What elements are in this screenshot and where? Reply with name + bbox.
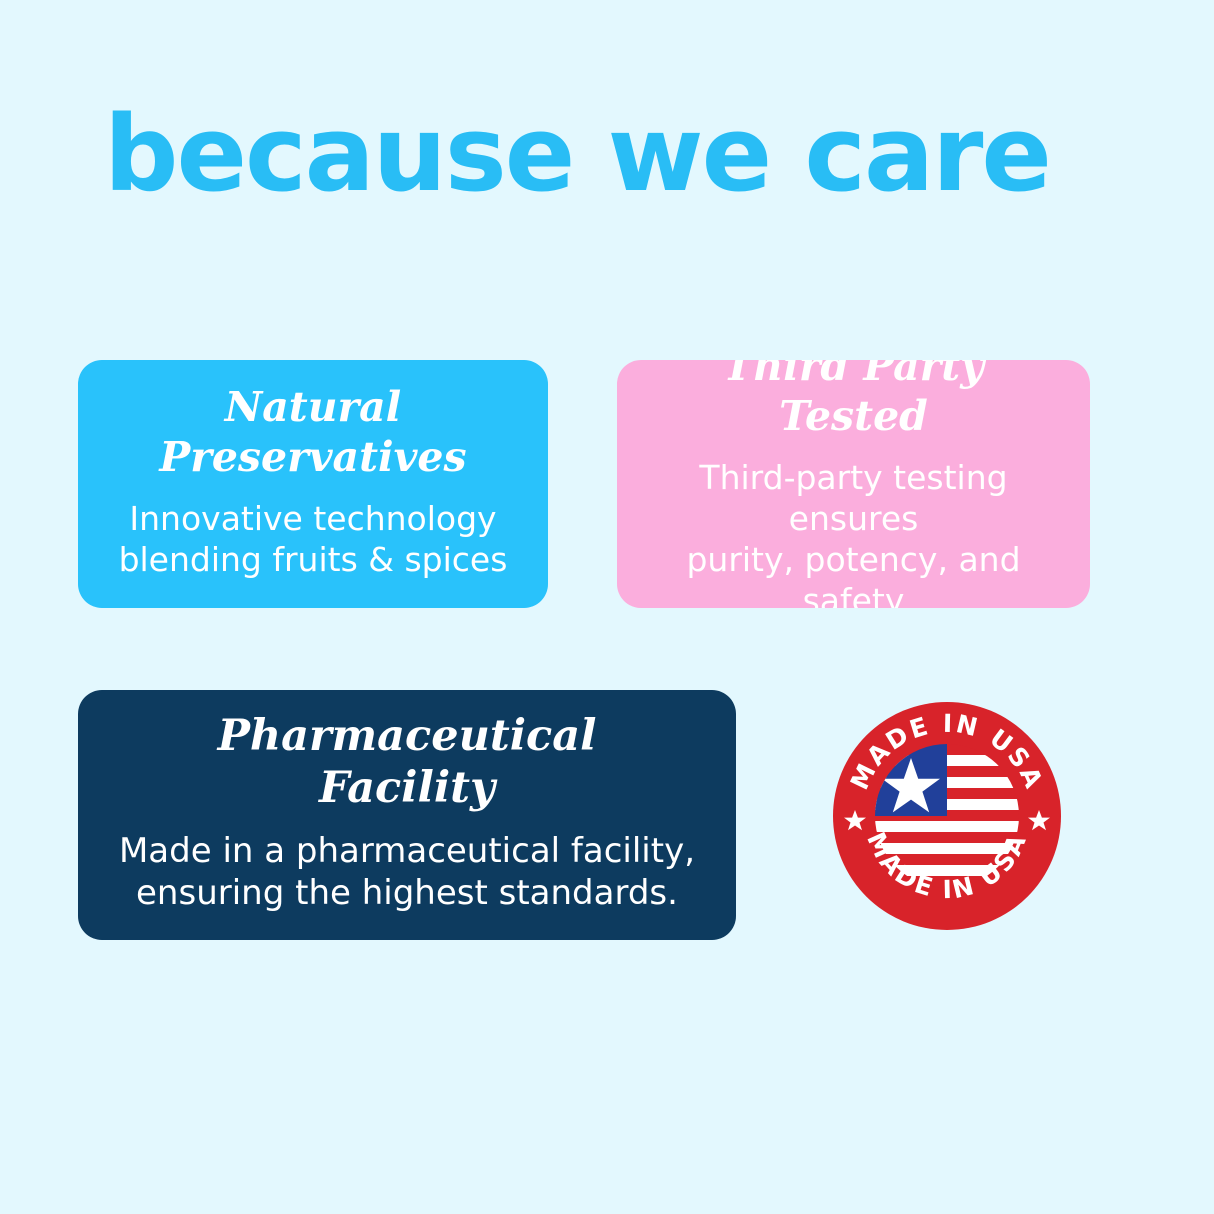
card-title-line-2: Tested <box>723 391 984 441</box>
poster-canvas: because we care Natural Preservatives In… <box>0 0 1214 1214</box>
card-title-line-2: Facility <box>218 762 597 814</box>
made-in-usa-badge: MADE IN USA MADE IN USA <box>833 702 1061 930</box>
card-body-line-1: Made in a pharmaceutical facility, <box>119 830 695 872</box>
card-title-line-1: Natural <box>159 382 466 432</box>
card-body-line-2: purity, potency, and safety <box>631 539 1076 608</box>
card-title-line-2: Preservatives <box>159 432 466 482</box>
card-title-line-1: Pharmaceutical <box>218 710 597 762</box>
card-body: Innovative technology blending fruits & … <box>119 498 508 580</box>
card-body: Third-party testing ensures purity, pote… <box>631 457 1076 608</box>
feature-card-pharmaceutical-facility: Pharmaceutical Facility Made in a pharma… <box>78 690 736 940</box>
card-title-line-1: Third Party <box>723 360 984 391</box>
page-title: because we care <box>104 92 1104 222</box>
card-title: Third Party Tested <box>723 360 984 441</box>
card-body-line-2: ensuring the highest standards. <box>119 872 695 914</box>
card-body: Made in a pharmaceutical facility, ensur… <box>119 830 695 914</box>
card-body-line-2: blending fruits & spices <box>119 539 508 580</box>
card-body-line-1: Innovative technology <box>119 498 508 539</box>
feature-card-third-party-tested: Third Party Tested Third-party testing e… <box>617 360 1090 608</box>
card-body-line-1: Third-party testing ensures <box>631 457 1076 539</box>
card-title: Pharmaceutical Facility <box>218 710 597 814</box>
feature-card-natural-preservatives: Natural Preservatives Innovative technol… <box>78 360 548 608</box>
card-title: Natural Preservatives <box>159 382 466 482</box>
